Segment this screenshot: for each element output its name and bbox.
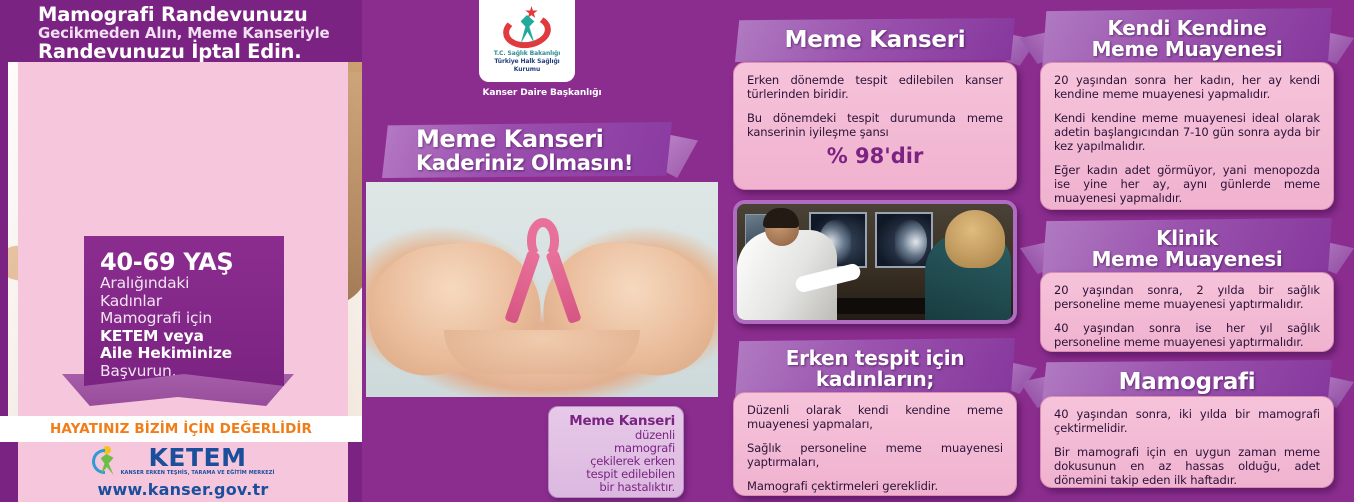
center-banner-line-2: Kaderiniz Olmasın! [416, 152, 672, 175]
ministry-emblem-icon [499, 6, 555, 50]
erken-tespit-title-line-2: kadınların; [816, 369, 934, 390]
meme-kanseri-header-plate: Meme Kanseri [735, 18, 1015, 62]
meme-kanseri-title: Meme Kanseri [785, 30, 966, 51]
kendi-kendine-paragraph-3: Eğer kadın adet görmüyor, yani menopozda… [1054, 163, 1320, 205]
center-banner: Meme Kanseri Kaderiniz Olmasın! [382, 122, 672, 180]
center-banner-line-1: Meme Kanseri [416, 127, 672, 152]
klinik-paragraph-2: 40 yaşından sonra ise her yıl sağlık per… [1054, 321, 1320, 349]
ministry-logo-card: T.C. Sağlık Bakanlığı Türkiye Halk Sağlı… [479, 0, 575, 82]
ketem-branding: KETEM KANSER ERKEN TEŞHİS, TARAMA VE EĞİ… [18, 442, 348, 502]
left-panel: Mamografi Randevunuzu Gecikmeden Alın, M… [0, 0, 362, 502]
meme-kanseri-paragraph-2: Bu dönemdeki tespit durumunda meme kanse… [747, 111, 1003, 139]
kendi-kendine-header: Kendi Kendine Meme Muayenesi [1042, 8, 1332, 70]
mamografi-card: 40 yaşından sonra, iki yılda bir mamogra… [1040, 396, 1334, 488]
klinik-header: Klinik Meme Muayenesi [1042, 218, 1332, 280]
ketem-website-url[interactable]: www.kanser.gov.tr [98, 480, 269, 499]
erken-tespit-card: Düzenli olarak kendi kendine meme muayen… [733, 392, 1017, 496]
ketem-figure-icon [92, 446, 118, 476]
callout-line-2: Kadınlar [100, 293, 276, 311]
kendi-kendine-title-line-1: Kendi Kendine [1107, 18, 1266, 39]
klinik-title-line-1: Klinik [1156, 228, 1218, 249]
mamografi-paragraph-2: Bir mamografi için en uygun zaman meme d… [1054, 445, 1320, 487]
age-callout-banner: 40-69 YAŞ Aralığındaki Kadınlar Mamograf… [84, 236, 284, 386]
erken-tespit-title-line-1: Erken tespit için [786, 348, 964, 369]
erken-tespit-paragraph-1: Düzenli olarak kendi kendine meme muayen… [747, 403, 1003, 431]
klinik-paragraph-1: 20 yaşından sonra, 2 yılda bir sağlık pe… [1054, 283, 1320, 311]
pink-awareness-ribbon-icon [512, 218, 574, 330]
erken-tespit-paragraph-2: Sağlık personeline meme muayenesi yaptır… [747, 441, 1003, 469]
kendi-kendine-paragraph-2: Kendi kendine meme muayenesi ideal olara… [1054, 111, 1320, 153]
ketem-wordmark-group: KETEM KANSER ERKEN TEŞHİS, TARAMA VE EĞİ… [121, 445, 275, 477]
ministry-logo-line-2: Türkiye Halk Sağlığı [494, 58, 559, 66]
meme-kanseri-header: Meme Kanseri [735, 18, 1015, 62]
center-note-card: Meme Kanseri düzenli mamografi çekilerek… [548, 406, 684, 498]
mamografi-paragraph-1: 40 yaşından sonra, iki yılda bir mamogra… [1054, 407, 1320, 435]
left-headline-line-3: Randevunuzu İptal Edin. [38, 42, 356, 62]
meme-kanseri-statistic: % 98'dir [747, 149, 1003, 163]
slogan-bar: HAYATINIZ BİZİM İÇİN DEĞERLİDİR [0, 416, 362, 442]
kendi-kendine-header-plate: Kendi Kendine Meme Muayenesi [1042, 8, 1332, 70]
meme-kanseri-card: Erken dönemde tespit edilebilen kanser t… [733, 62, 1017, 190]
klinik-card: 20 yaşından sonra, 2 yılda bir sağlık pe… [1040, 272, 1334, 352]
age-range-text: 40-69 YAŞ [100, 250, 276, 275]
callout-line-4: KETEM veya [100, 328, 276, 346]
ketem-wordmark: KETEM [149, 445, 247, 470]
erken-tespit-header-plate: Erken tespit için kadınların; [735, 338, 1015, 400]
erken-tespit-header: Erken tespit için kadınların; [735, 338, 1015, 400]
center-note-line-5: bir hastalıktır. [557, 481, 675, 494]
ministry-caption: Kanser Daire Başkanlığı [366, 88, 718, 98]
ketem-logo: KETEM KANSER ERKEN TEŞHİS, TARAMA VE EĞİ… [92, 445, 275, 477]
center-note-heading: Meme Kanseri [557, 414, 675, 429]
poster-root: Mamografi Randevunuzu Gecikmeden Alın, M… [0, 0, 1354, 502]
ministry-logo-line-3: Kurumu [514, 66, 541, 74]
photo-fingers [444, 330, 640, 374]
klinik-header-plate: Klinik Meme Muayenesi [1042, 218, 1332, 280]
callout-line-1: Aralığındaki [100, 275, 276, 293]
mamografi-title: Mamografi [1119, 372, 1256, 393]
center-banner-plate: Meme Kanseri Kaderiniz Olmasın! [382, 122, 672, 178]
meme-kanseri-paragraph-1: Erken dönemde tespit edilebilen kanser t… [747, 73, 1003, 101]
left-headline: Mamografi Randevunuzu Gecikmeden Alın, M… [0, 0, 362, 62]
erken-tespit-paragraph-3: Mamografi çektirmeleri gereklidir. [747, 479, 1003, 493]
center-panel: T.C. Sağlık Bakanlığı Türkiye Halk Sağlı… [366, 0, 718, 502]
kendi-kendine-title-line-2: Meme Muayenesi [1092, 39, 1283, 60]
ketem-subtitle: KANSER ERKEN TEŞHİS, TARAMA VE EĞİTİM ME… [121, 470, 275, 477]
callout-line-5: Aile Hekiminize [100, 345, 276, 363]
ministry-logo-line-1: T.C. Sağlık Bakanlığı [494, 50, 560, 58]
callout-line-3: Mamografi için [100, 310, 276, 328]
left-headline-line-1: Mamografi Randevunuzu [38, 5, 356, 25]
klinik-title-line-2: Meme Muayenesi [1092, 249, 1283, 270]
kendi-kendine-card: 20 yaşından sonra her kadın, her ay kend… [1040, 62, 1334, 210]
photo-mammogram-screen-left [875, 212, 933, 268]
photo-patient-hair [945, 210, 1005, 268]
mammography-consultation-photo [733, 200, 1017, 324]
slogan-text: HAYATINIZ BİZİM İÇİN DEĞERLİDİR [50, 421, 312, 437]
kendi-kendine-paragraph-1: 20 yaşından sonra her kadın, her ay kend… [1054, 73, 1320, 101]
